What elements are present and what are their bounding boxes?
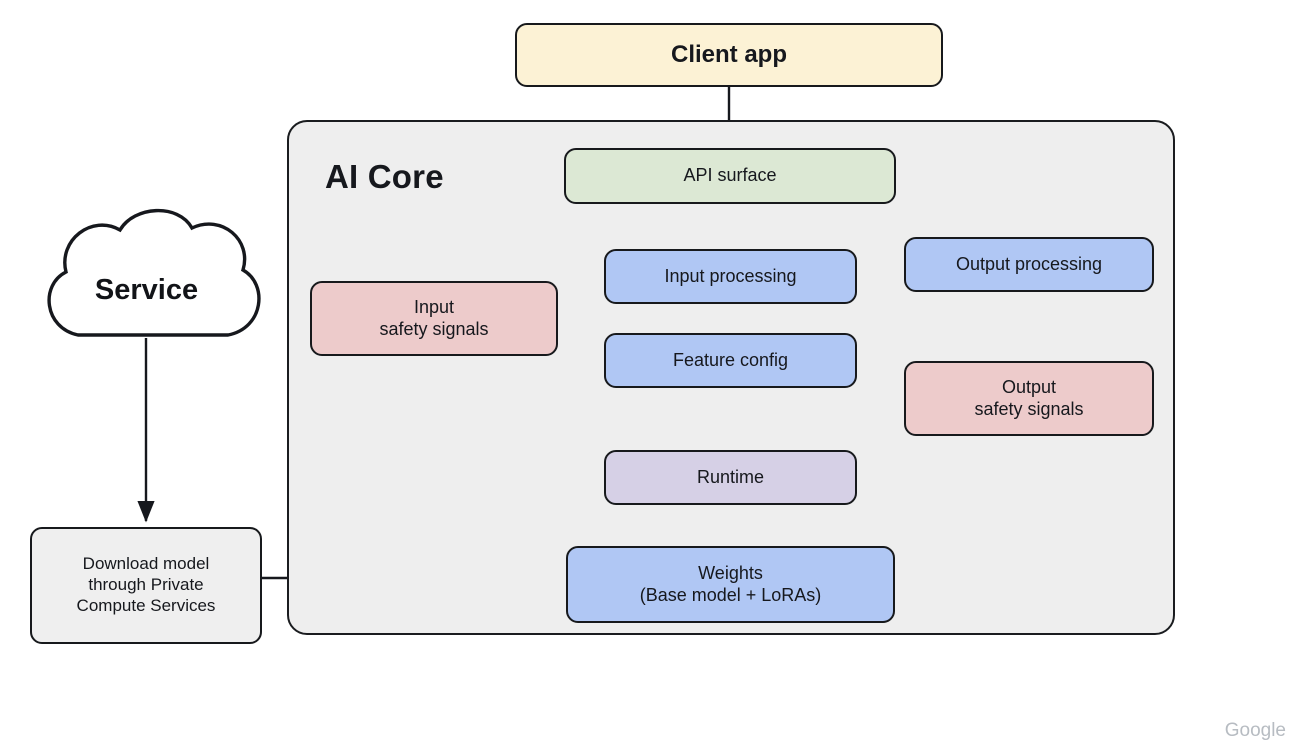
- node-runtime[interactable]: Runtime: [604, 450, 857, 505]
- node-output-safety-signals[interactable]: Output safety signals: [904, 361, 1154, 436]
- node-feature-config[interactable]: Feature config: [604, 333, 857, 388]
- google-watermark: Google: [1225, 720, 1286, 742]
- service-cloud-label: Service: [45, 274, 248, 307]
- node-output-processing[interactable]: Output processing: [904, 237, 1154, 292]
- node-download-model[interactable]: Download model through Private Compute S…: [30, 527, 262, 644]
- node-input-safety-signals[interactable]: Input safety signals: [310, 281, 558, 356]
- node-weights[interactable]: Weights (Base model + LoRAs): [566, 546, 895, 623]
- node-client-app[interactable]: Client app: [515, 23, 943, 87]
- ai-core-title: AI Core: [325, 158, 444, 196]
- diagram-canvas: AI Core: [0, 0, 1304, 756]
- node-api-surface[interactable]: API surface: [564, 148, 896, 204]
- node-input-processing[interactable]: Input processing: [604, 249, 857, 304]
- service-cloud-shape: [49, 211, 259, 335]
